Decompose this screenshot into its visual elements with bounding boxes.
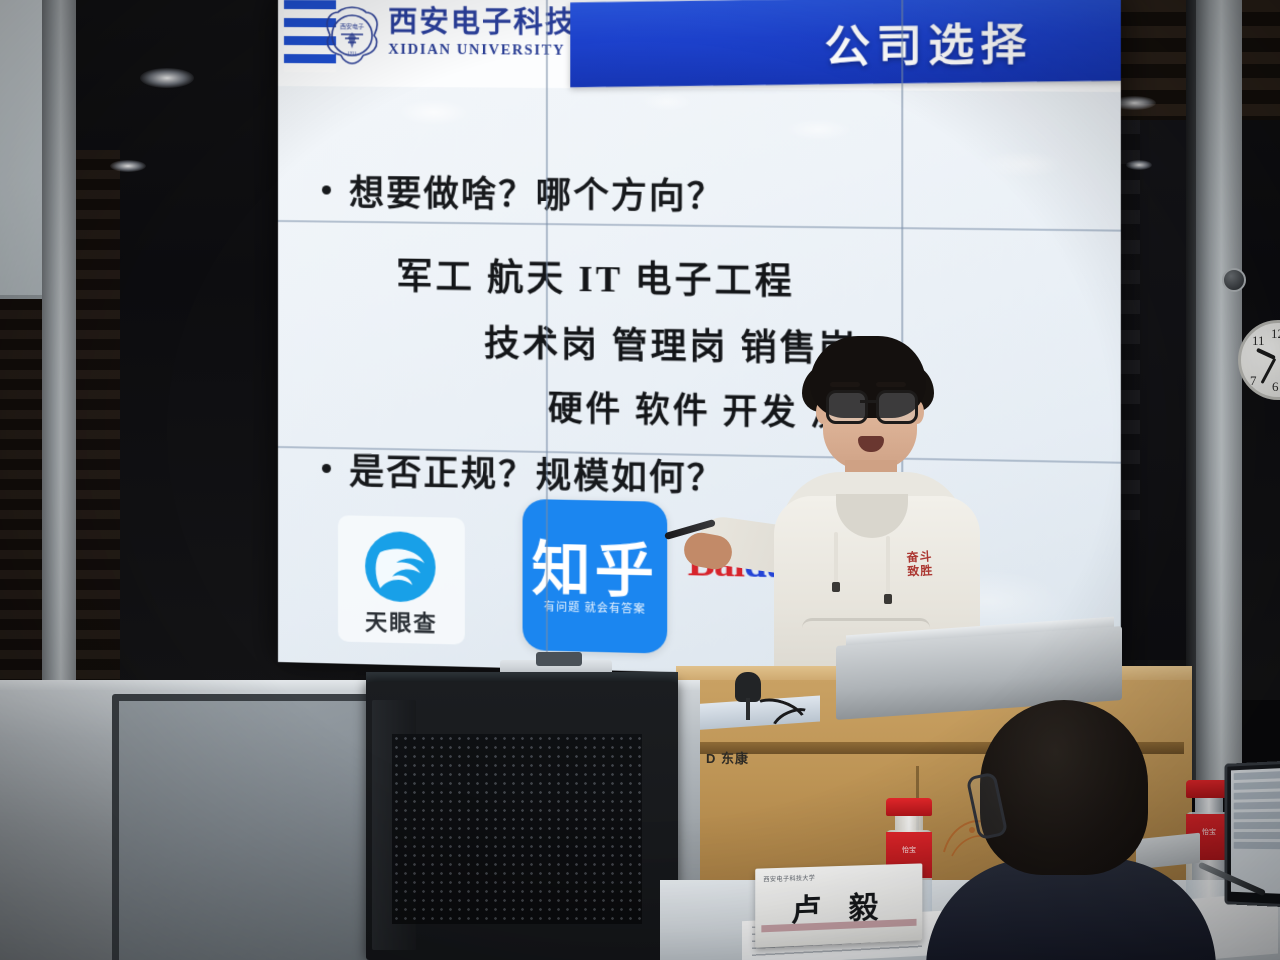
laptop-screen-row [1234,801,1280,809]
tianyancha-mark-icon [360,526,441,608]
lecture-hall-scene: 12 11 7 6 5 西安电子 1931 西安电子科技大学 XI [0,0,1280,960]
laptop-screen-row [1234,812,1280,820]
laptop-screen-row [1234,842,1280,849]
hoodie-drawstring-right [886,536,890,596]
bottle-cap [886,798,932,816]
name-placard: 西安电子科技大学 卢 毅 [755,863,922,947]
university-seal-icon: 西安电子 1931 [322,4,382,66]
slide-bullet-1: 想要做啥？哪个方向？ [322,164,725,220]
security-camera-icon [1222,268,1246,292]
clock-number-12: 12 [1271,326,1280,342]
glasses-icon-left [826,390,868,424]
pillar-left [42,0,76,720]
laptop-screen [1231,768,1280,894]
zhihu-wordmark: 知乎 [523,521,668,609]
bullet-dot-icon [322,464,331,473]
bottle-neck [1195,798,1223,812]
clock-number-7: 7 [1250,373,1257,389]
screen-glare-2 [785,118,851,141]
hoodie-drawstring-left [834,532,838,584]
laptop-screen-row [1234,771,1280,780]
display-seam-horizontal-1 [278,220,1121,232]
screen-glare-4 [982,150,1066,177]
hoodie-chest-logo: 奋斗 致胜 [899,549,941,581]
equipment-panel [112,694,384,960]
presenter-brow-right [876,382,906,387]
ceiling-light-4 [1126,160,1152,170]
svg-text:1931: 1931 [347,50,357,55]
slide-bullet-1-text: 想要做啥？哪个方向？ [349,165,725,220]
slide-title: 公司选择 [722,6,1121,77]
whiteboard [0,0,48,299]
tianyancha-logo: 天眼查 [338,515,465,644]
laptop-screen-row [1234,791,1280,799]
laptop-screen-row [1234,822,1280,829]
screen-glare-3 [642,93,693,112]
glasses-bridge [860,400,878,403]
drawstring-tip-right [884,594,892,604]
screen-glare-1 [398,99,469,126]
rack-device-handle [536,652,582,666]
presenter-brow-left [830,382,860,387]
laptop-screen-row [1234,832,1280,839]
ceiling-light-1 [140,68,194,88]
attendee-head [980,700,1148,875]
laptop-screen-row [1234,781,1280,790]
drawstring-tip-left [832,582,840,592]
zhihu-tagline: 有问题 就会有答案 [523,598,668,618]
display-seam-vertical-1 [546,0,548,669]
bottle-label-text: 怡宝 [886,846,932,855]
slide-line-1: 军工 航天 IT 电子工程 [396,247,795,305]
bullet-dot-icon [322,185,331,194]
equipment-rack-mesh [392,734,642,924]
tianyancha-wordmark: 天眼查 [338,603,465,638]
podium-brand-label: D 东康 [706,748,749,767]
clock-number-11: 11 [1252,333,1265,349]
ceiling-light-2 [110,160,146,172]
slide-header: 西安电子 1931 西安电子科技大学 XIDIAN UNIVERSITY 公司选… [278,0,1121,92]
clock-number-6: 6 [1272,379,1279,395]
pillar-right [1196,0,1242,780]
zhihu-logo: 知乎 有问题 就会有答案 [523,499,668,654]
bottle-neck [895,816,923,830]
glasses-icon-right [876,390,918,424]
svg-text:西安电子: 西安电子 [340,22,364,30]
